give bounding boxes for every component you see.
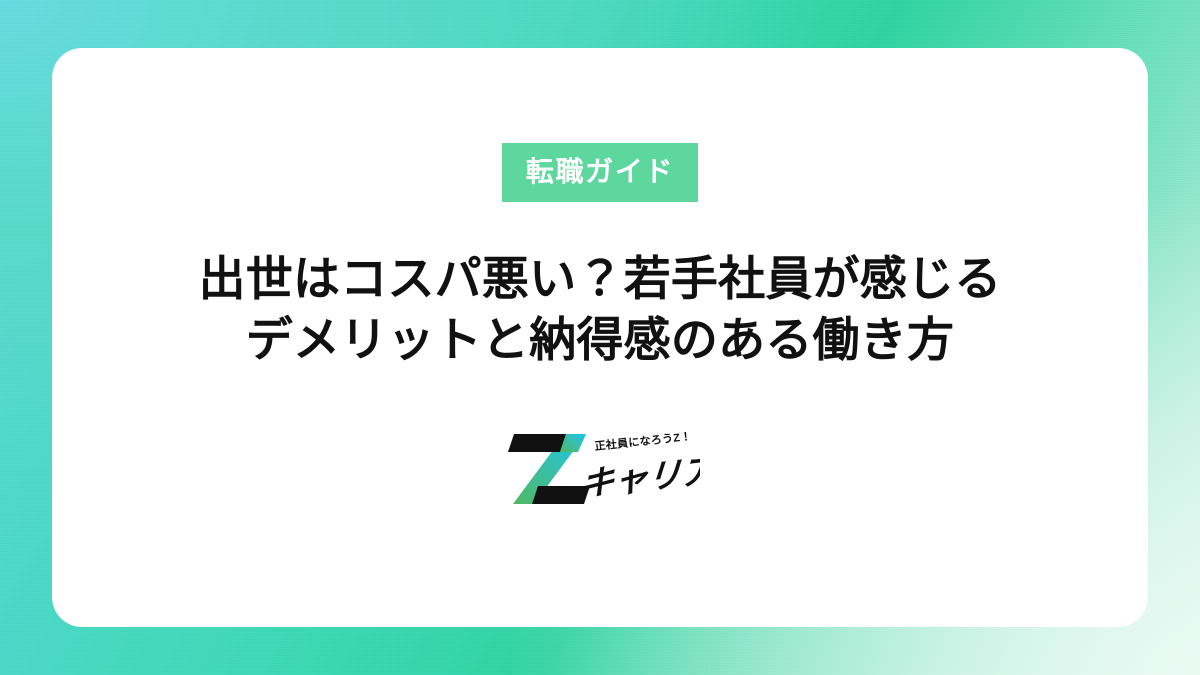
page-title-line-1: 出世はコスパ悪い？若手社員が感じる [199,248,1002,309]
brand-logo-svg: 正社員になろうZ！ キャリア [500,424,700,508]
page-title-line-2: デメリットと納得感のある働き方 [199,309,1002,370]
logo-z-mark [508,434,590,504]
logo-wordmark: キャリア [579,452,700,504]
category-badge: 転職ガイド [502,143,698,202]
logo-tagline: 正社員になろうZ！ [594,429,692,453]
page-title: 出世はコスパ悪い？若手社員が感じる デメリットと納得感のある働き方 [199,248,1002,370]
content-card: 転職ガイド 出世はコスパ悪い？若手社員が感じる デメリットと納得感のある働き方 [52,48,1148,627]
brand-logo: 正社員になろうZ！ キャリア [500,424,700,508]
